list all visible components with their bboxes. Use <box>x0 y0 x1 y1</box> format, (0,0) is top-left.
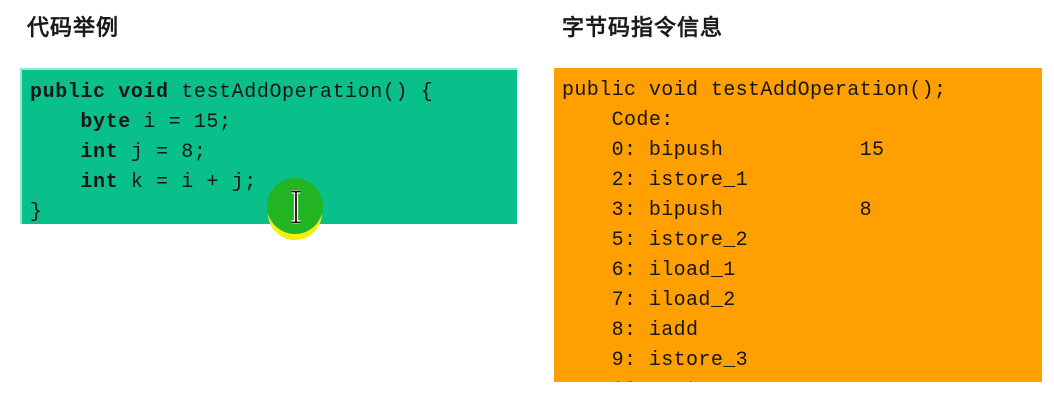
source-code-line: public void testAddOperation() { <box>30 78 517 108</box>
code-text: k = i + j; <box>131 171 257 194</box>
code-keyword: int <box>30 171 131 194</box>
code-text: } <box>30 201 43 224</box>
code-keyword: public void <box>30 81 181 104</box>
source-code-line: int k = i + j; <box>30 168 517 198</box>
bytecode-line: 10: return <box>562 376 1042 382</box>
bytecode-panel-title: 字节码指令信息 <box>562 14 723 42</box>
code-keyword: int <box>30 141 131 164</box>
bytecode-line: 0: bipush 15 <box>562 136 1042 166</box>
bytecode-line: 7: iload_2 <box>562 286 1042 316</box>
slide-canvas: 代码举例 public void testAddOperation() { by… <box>0 0 1054 401</box>
code-text: testAddOperation() { <box>181 81 433 104</box>
bytecode-line: 3: bipush 8 <box>562 196 1042 226</box>
source-code-line: byte i = 15; <box>30 108 517 138</box>
source-code-panel[interactable]: public void testAddOperation() { byte i … <box>20 68 517 224</box>
source-code-line: } <box>30 198 517 224</box>
bytecode-line: 8: iadd <box>562 316 1042 346</box>
bytecode-line: 9: istore_3 <box>562 346 1042 376</box>
bytecode-line: Code: <box>562 106 1042 136</box>
source-code-line: int j = 8; <box>30 138 517 168</box>
bytecode-panel[interactable]: public void testAddOperation(); Code: 0:… <box>554 68 1042 382</box>
bytecode-line: 5: istore_2 <box>562 226 1042 256</box>
code-keyword: byte <box>30 111 143 134</box>
bytecode-line: 6: iload_1 <box>562 256 1042 286</box>
source-panel-title: 代码举例 <box>27 14 119 42</box>
bytecode-line: public void testAddOperation(); <box>562 76 1042 106</box>
code-text: i = 15; <box>143 111 231 134</box>
code-text: j = 8; <box>131 141 207 164</box>
bytecode-line: 2: istore_1 <box>562 166 1042 196</box>
